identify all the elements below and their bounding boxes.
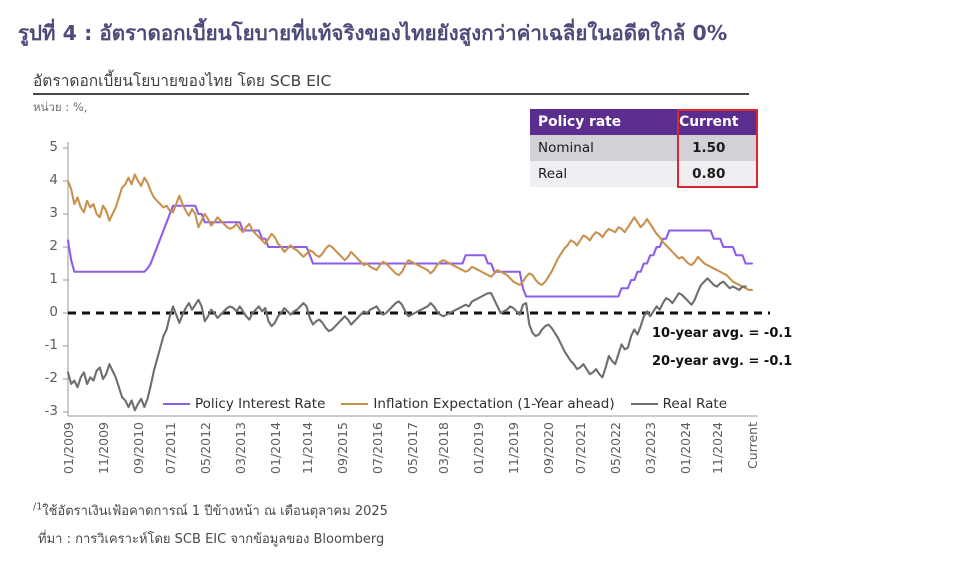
y-tick-label: 3 [32, 205, 58, 221]
y-tick-label: 0 [32, 304, 58, 320]
x-tick-label: 03/2018 [436, 422, 451, 474]
x-tick-label: 09/2015 [335, 422, 350, 474]
chart-series-group [68, 174, 752, 410]
legend-item: Inflation Expectation (1-Year ahead) [341, 396, 614, 412]
y-tick-label: 5 [32, 139, 58, 155]
legend-label: Inflation Expectation (1-Year ahead) [373, 396, 614, 412]
x-tick-label: 07/2021 [573, 422, 588, 474]
legend-swatch [631, 403, 658, 406]
legend-swatch [341, 403, 368, 406]
x-tick-label: 01/2024 [678, 422, 693, 474]
footnote-marker: /1 [33, 502, 42, 513]
annotation-10-year-avg: 10-year avg. = -0.1 [652, 326, 792, 341]
y-tick-label: -1 [32, 337, 58, 353]
x-tick-label: 05/2022 [608, 422, 623, 474]
y-tick-label: 4 [32, 172, 58, 188]
x-tick-label: 11/2009 [96, 422, 111, 474]
x-tick-label: 05/2012 [198, 422, 213, 474]
x-tick-label: 11/2024 [710, 422, 725, 474]
x-tick-label: 11/2019 [506, 422, 521, 474]
x-tick-label: 01/2019 [471, 422, 486, 474]
figure-container: รูปที่ 4 : อัตราดอกเบี้ยนโยบายที่แท้จริง… [0, 0, 960, 566]
legend-item: Real Rate [631, 396, 727, 412]
x-tick-label: 03/2013 [233, 422, 248, 474]
x-tick-label: 11/2014 [300, 422, 315, 474]
line-chart-plot [0, 0, 960, 566]
x-tick-label: 01/2009 [61, 422, 76, 474]
chart-axes [63, 142, 758, 416]
x-tick-label: 01/2014 [268, 422, 283, 474]
x-tick-label: 05/2017 [405, 422, 420, 474]
x-tick-label: 09/2020 [541, 422, 556, 474]
x-tick-label: Current [745, 422, 760, 469]
legend-label: Real Rate [663, 396, 727, 412]
chart-legend: Policy Interest RateInflation Expectatio… [163, 396, 727, 412]
x-tick-label: 07/2011 [163, 422, 178, 474]
y-tick-label: 2 [32, 238, 58, 254]
legend-swatch [163, 403, 190, 406]
footnote-source: ที่มา : การวิเคราะห์โดย SCB EIC จากข้อมู… [38, 528, 384, 549]
y-tick-label: -2 [32, 370, 58, 386]
legend-label: Policy Interest Rate [195, 396, 325, 412]
legend-item: Policy Interest Rate [163, 396, 325, 412]
footnote-text: ใช้อัตราเงินเฟ้อคาดการณ์ 1 ปีข้างหน้า ณ … [42, 504, 388, 519]
y-tick-label: 1 [32, 271, 58, 287]
annotation-20-year-avg: 20-year avg. = -0.1 [652, 354, 792, 369]
y-tick-label: -3 [32, 403, 58, 419]
x-tick-label: 09/2010 [131, 422, 146, 474]
x-tick-label: 03/2023 [643, 422, 658, 474]
footnote-methodology: /1ใช้อัตราเงินเฟ้อคาดการณ์ 1 ปีข้างหน้า … [33, 500, 388, 521]
x-tick-label: 07/2016 [370, 422, 385, 474]
